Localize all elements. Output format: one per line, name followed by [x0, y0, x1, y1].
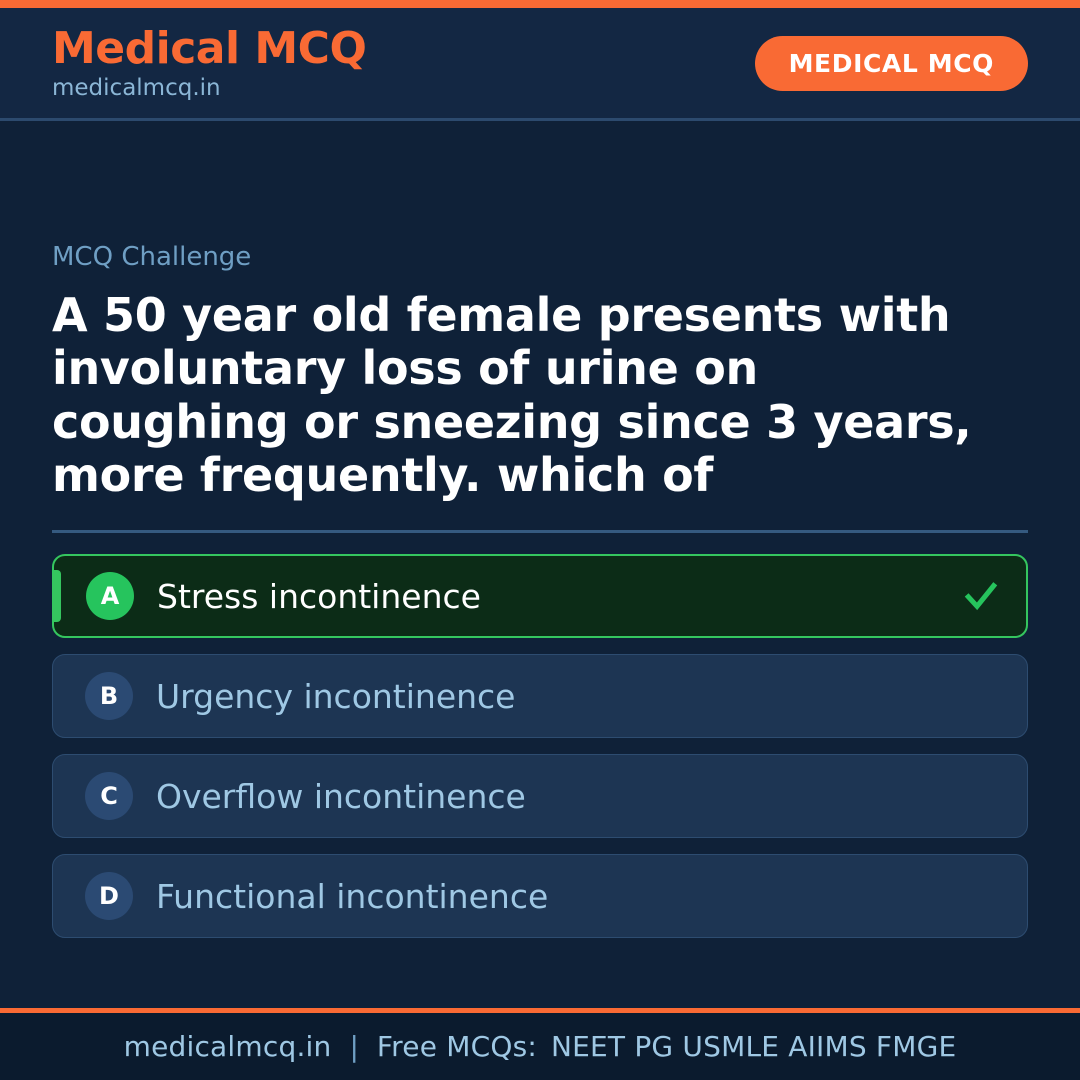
page-footer: medicalmcq.in | Free MCQs: NEET PG USMLE…	[0, 1008, 1080, 1080]
brand-title: Medical MCQ	[52, 27, 366, 71]
check-icon	[962, 577, 1000, 615]
brand-subtitle: medicalmcq.in	[52, 77, 366, 100]
top-accent-rule	[0, 0, 1080, 8]
options-list: A Stress incontinence B Urgency incontin…	[52, 554, 1028, 938]
page-header: Medical MCQ medicalmcq.in MEDICAL MCQ	[0, 8, 1080, 121]
eyebrow-label: MCQ Challenge	[52, 244, 1028, 270]
footer-separator: |	[331, 1030, 376, 1063]
correct-accent-bar	[54, 570, 61, 622]
question-divider	[52, 530, 1028, 533]
footer-exams-label: Free MCQs:	[377, 1030, 537, 1063]
question-text: A 50 year old female presents with invol…	[52, 289, 1002, 502]
mcq-card: Medical MCQ medicalmcq.in MEDICAL MCQ MC…	[0, 0, 1080, 1080]
footer-exams: NEET PG USMLE AIIMS FMGE	[537, 1030, 956, 1063]
footer-site: medicalmcq.in	[124, 1030, 332, 1063]
option-letter-badge-b: B	[85, 672, 133, 720]
header-badge: MEDICAL MCQ	[755, 36, 1028, 91]
option-row-b[interactable]: B Urgency incontinence	[52, 654, 1028, 738]
option-row-a[interactable]: A Stress incontinence	[52, 554, 1028, 638]
option-letter-badge-c: C	[85, 772, 133, 820]
brand-block: Medical MCQ medicalmcq.in	[52, 27, 366, 100]
option-letter-badge-a: A	[86, 572, 134, 620]
option-label-a: Stress incontinence	[157, 580, 481, 613]
option-label-b: Urgency incontinence	[156, 680, 516, 713]
option-row-d[interactable]: D Functional incontinence	[52, 854, 1028, 938]
question-body: MCQ Challenge A 50 year old female prese…	[0, 121, 1080, 1008]
option-label-c: Overflow incontinence	[156, 780, 526, 813]
option-label-d: Functional incontinence	[156, 880, 548, 913]
option-letter-badge-d: D	[85, 872, 133, 920]
option-row-c[interactable]: C Overflow incontinence	[52, 754, 1028, 838]
